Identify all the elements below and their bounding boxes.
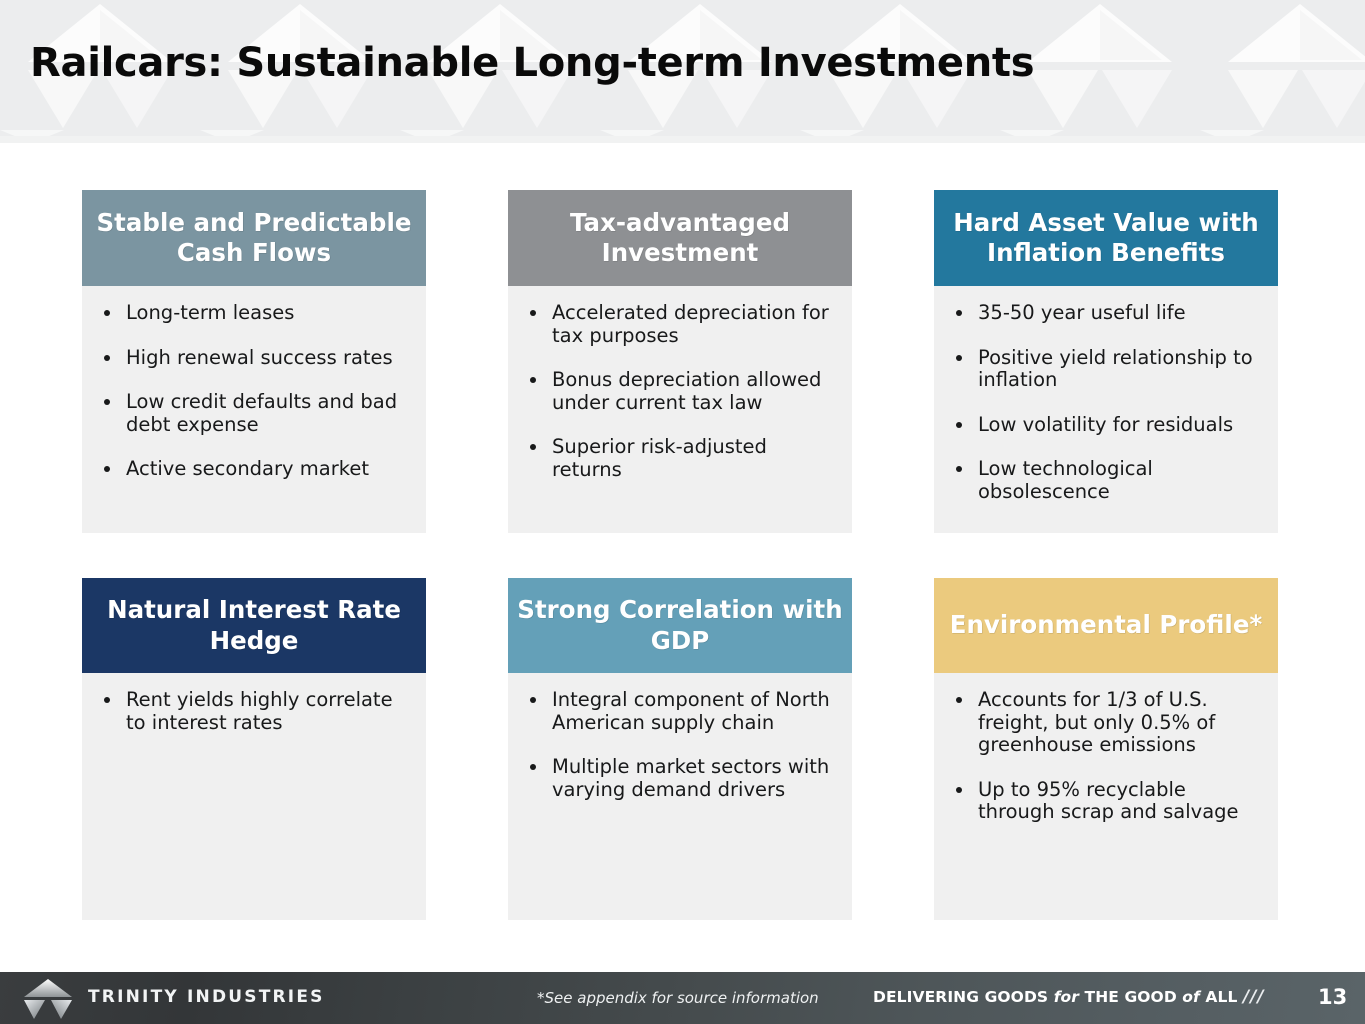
list-item: Low technological obsolescence (950, 458, 1264, 503)
list-item-label: High renewal success rates (126, 346, 393, 369)
bullet-dot-icon (956, 422, 962, 428)
slide-content-area: Stable and Predictable Cash Flows Long-t… (0, 143, 1365, 972)
list-item: High renewal success rates (98, 347, 412, 370)
list-item-label: Long-term leases (126, 301, 294, 324)
bullet-dot-icon (530, 377, 536, 383)
bullet-dot-icon (956, 355, 962, 361)
list-item-label: Integral component of North American sup… (552, 688, 830, 734)
list-item: Active secondary market (98, 458, 412, 481)
card-body: Integral component of North American sup… (508, 673, 852, 920)
slide-title-band: Railcars: Sustainable Long-term Investme… (0, 0, 1365, 143)
trinity-diamond-logo-icon (20, 976, 76, 1022)
card-header: Hard Asset Value with Inflation Benefits (934, 190, 1278, 286)
bullet-list: Accelerated depreciation for tax purpose… (524, 302, 838, 481)
list-item: Superior risk-adjusted returns (524, 436, 838, 481)
list-item: Multiple market sectors with varying dem… (524, 756, 838, 801)
list-item: Low credit defaults and bad debt expense (98, 391, 412, 436)
list-item-label: Up to 95% recyclable through scrap and s… (978, 778, 1239, 824)
card-header: Tax-advantaged Investment (508, 190, 852, 286)
bullet-list: Rent yields highly correlate to interest… (98, 689, 412, 734)
list-item: Up to 95% recyclable through scrap and s… (950, 779, 1264, 824)
bullet-dot-icon (956, 466, 962, 472)
card-body: Accounts for 1/3 of U.S. freight, but on… (934, 673, 1278, 920)
list-item: Integral component of North American sup… (524, 689, 838, 734)
card-body: 35-50 year useful life Positive yield re… (934, 286, 1278, 533)
card-body: Accelerated depreciation for tax purpose… (508, 286, 852, 533)
footer-tagline: DELIVERING GOODS for THE GOOD of ALL (873, 988, 1237, 1006)
footer-brand-label: TRINITY INDUSTRIES (88, 987, 325, 1007)
card-hard-asset-value: Hard Asset Value with Inflation Benefits… (934, 190, 1278, 533)
tagline-part1: DELIVERING GOODS (873, 988, 1054, 1006)
card-strong-correlation-with-gdp: Strong Correlation with GDP Integral com… (508, 578, 852, 920)
list-item-label: Low volatility for residuals (978, 413, 1233, 436)
tagline-of: of (1182, 988, 1200, 1006)
card-stable-predictable-cash-flows: Stable and Predictable Cash Flows Long-t… (82, 190, 426, 533)
list-item: Positive yield relationship to inflation (950, 347, 1264, 392)
card-header: Strong Correlation with GDP (508, 578, 852, 673)
bullet-dot-icon (104, 355, 110, 361)
list-item: 35-50 year useful life (950, 302, 1264, 325)
bullet-dot-icon (104, 399, 110, 405)
list-item-label: Low credit defaults and bad debt expense (126, 390, 397, 436)
list-item-label: Superior risk-adjusted returns (552, 435, 767, 481)
list-item-label: Accounts for 1/3 of U.S. freight, but on… (978, 688, 1215, 756)
tagline-for: for (1054, 988, 1079, 1006)
list-item: Rent yields highly correlate to interest… (98, 689, 412, 734)
list-item-label: Multiple market sectors with varying dem… (552, 755, 829, 801)
bullet-dot-icon (530, 310, 536, 316)
card-natural-interest-rate-hedge: Natural Interest Rate Hedge Rent yields … (82, 578, 426, 920)
bullet-dot-icon (104, 466, 110, 472)
bullet-dot-icon (956, 787, 962, 793)
tagline-part3: ALL (1200, 988, 1238, 1006)
card-header: Environmental Profile* (934, 578, 1278, 673)
footer-source-note: *See appendix for source information (537, 989, 819, 1007)
card-body: Rent yields highly correlate to interest… (82, 673, 426, 920)
list-item: Accounts for 1/3 of U.S. freight, but on… (950, 689, 1264, 757)
card-tax-advantaged-investment: Tax-advantaged Investment Accelerated de… (508, 190, 852, 533)
card-header: Natural Interest Rate Hedge (82, 578, 426, 673)
bullet-list: Integral component of North American sup… (524, 689, 838, 801)
bullet-dot-icon (956, 310, 962, 316)
list-item: Bonus depreciation allowed under current… (524, 369, 838, 414)
list-item: Long-term leases (98, 302, 412, 325)
footer-page-number: 13 (1318, 985, 1347, 1009)
list-item-label: Bonus depreciation allowed under current… (552, 368, 821, 414)
bullet-dot-icon (104, 697, 110, 703)
list-item-label: Rent yields highly correlate to interest… (126, 688, 393, 734)
card-environmental-profile: Environmental Profile* Accounts for 1/3 … (934, 578, 1278, 920)
bullet-list: Accounts for 1/3 of U.S. freight, but on… (950, 689, 1264, 824)
list-item-label: Low technological obsolescence (978, 457, 1153, 503)
list-item: Accelerated depreciation for tax purpose… (524, 302, 838, 347)
bullet-dot-icon (530, 764, 536, 770)
bullet-dot-icon (956, 697, 962, 703)
page-title: Railcars: Sustainable Long-term Investme… (30, 40, 1034, 86)
bullet-dot-icon (104, 310, 110, 316)
list-item-label: Accelerated depreciation for tax purpose… (552, 301, 829, 347)
bullet-dot-icon (530, 444, 536, 450)
slide-footer: TRINITY INDUSTRIES *See appendix for sou… (0, 972, 1365, 1024)
tagline-part2: THE GOOD (1079, 988, 1182, 1006)
card-header: Stable and Predictable Cash Flows (82, 190, 426, 286)
bullet-list: 35-50 year useful life Positive yield re… (950, 302, 1264, 503)
list-item-label: Active secondary market (126, 457, 369, 480)
bullet-list: Long-term leases High renewal success ra… (98, 302, 412, 481)
bullet-dot-icon (530, 697, 536, 703)
list-item-label: Positive yield relationship to inflation (978, 346, 1253, 392)
card-body: Long-term leases High renewal success ra… (82, 286, 426, 533)
list-item-label: 35-50 year useful life (978, 301, 1186, 324)
footer-slashes-decoration: /// (1243, 987, 1265, 1007)
list-item: Low volatility for residuals (950, 414, 1264, 437)
